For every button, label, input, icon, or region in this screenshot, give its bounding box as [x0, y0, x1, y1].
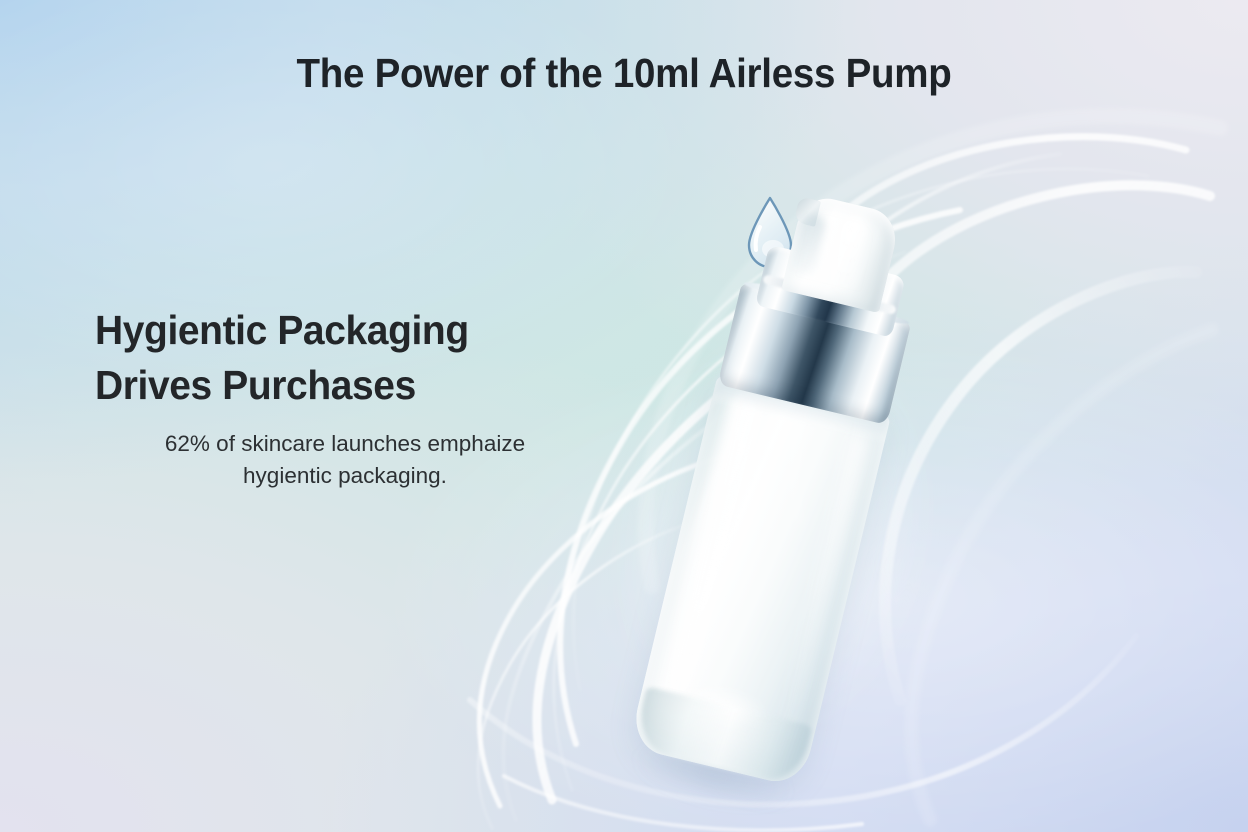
page-title: The Power of the 10ml Airless Pump [37, 50, 1210, 97]
subcopy: 62% of skincare launches emphaize hygien… [95, 428, 595, 493]
airless-pump-bottle [572, 167, 994, 818]
poster-canvas: The Power of the 10ml Airless Pump Hygie… [0, 0, 1248, 832]
copy-block: Hygientic Packaging Drives Purchases 62%… [95, 303, 595, 493]
headline: Hygientic Packaging Drives Purchases [95, 303, 570, 413]
